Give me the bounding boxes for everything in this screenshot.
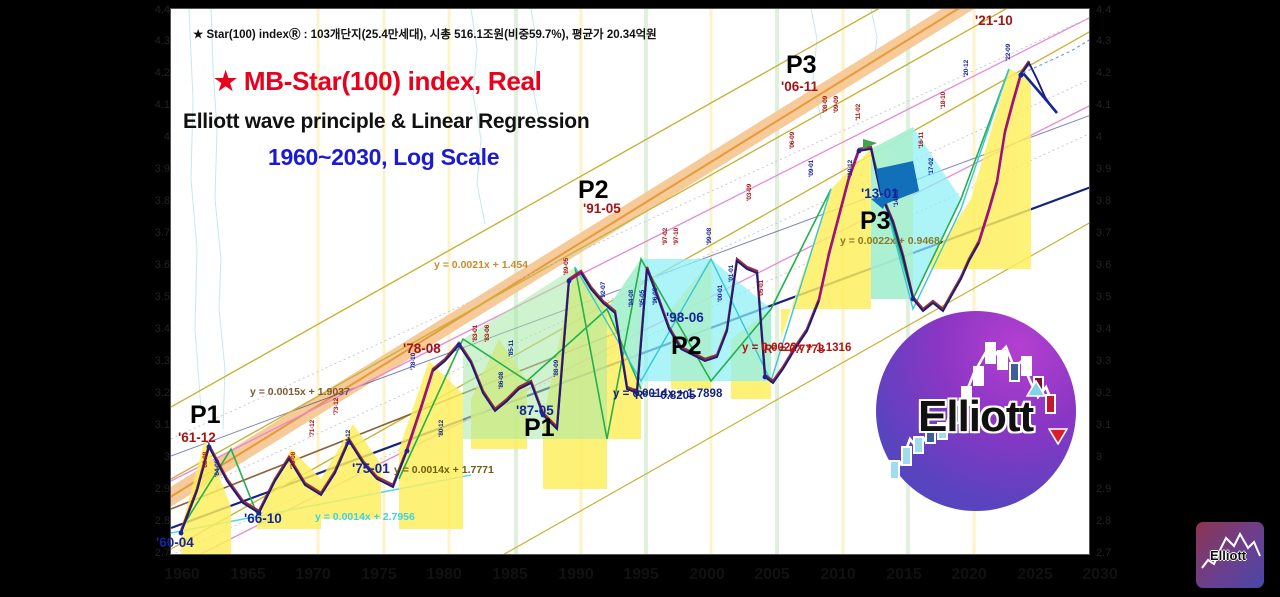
minor-pivot-83-06: '83-06 bbox=[484, 325, 491, 342]
ytick-right-4: 4 bbox=[1096, 131, 1130, 143]
pivot-label-87-05: '87-05 bbox=[516, 403, 554, 418]
ytick-right-4.4: 4.4 bbox=[1096, 4, 1130, 16]
wave-label-p3-b: P3 bbox=[860, 207, 891, 236]
minor-pivot-64-08: '64-08 bbox=[214, 460, 221, 477]
minor-pivot-63-08: '63-08 bbox=[202, 452, 209, 469]
pivot-label-98-06: '98-06 bbox=[666, 310, 704, 325]
ytick-right-3.1: 3.1 bbox=[1096, 419, 1130, 431]
xtick-2005: 2005 bbox=[742, 566, 802, 584]
minor-pivot-97-02: '97-02 bbox=[662, 228, 669, 245]
xtick-1965: 1965 bbox=[218, 566, 278, 584]
minor-pivot-18-10: '18-10 bbox=[940, 92, 947, 109]
minor-pivot-09-01: '09-01 bbox=[808, 160, 815, 177]
ytick-left-3.7: 3.7 bbox=[136, 227, 170, 239]
ytick-right-3.9: 3.9 bbox=[1096, 163, 1130, 175]
logo-wordmark: Elliott bbox=[918, 392, 1033, 442]
xtick-1960: 1960 bbox=[152, 566, 212, 584]
xtick-2030: 2030 bbox=[1070, 566, 1130, 584]
minor-pivot-14-03: '14-03 bbox=[893, 190, 900, 207]
watermark-wordmark: Elliott bbox=[1210, 548, 1246, 563]
ytick-left-3: 3 bbox=[136, 451, 170, 463]
xtick-2010: 2010 bbox=[808, 566, 868, 584]
ytick-left-2.8: 2.8 bbox=[136, 515, 170, 527]
ytick-right-4.2: 4.2 bbox=[1096, 67, 1130, 79]
ytick-left-4.2: 4.2 bbox=[136, 67, 170, 79]
xtick-1985: 1985 bbox=[480, 566, 540, 584]
equation-orange: y = 0.0021x + 1.454 bbox=[434, 258, 528, 272]
ytick-left-4.3: 4.3 bbox=[136, 35, 170, 47]
pivot-label-60-04: '60-04 bbox=[156, 535, 194, 550]
ytick-right-3.3: 3.3 bbox=[1096, 355, 1130, 367]
header-note: ★ Star(100) indexⓇ : 103개단지(25.4만세대), 시총… bbox=[193, 26, 657, 42]
wave-label-p2-b: P2 bbox=[671, 332, 702, 361]
title-line-3: 1960~2030, Log Scale bbox=[268, 144, 499, 171]
equation-navy-r2: R² = 0.8205 bbox=[635, 389, 695, 405]
pivot-label-78-08: '78-08 bbox=[403, 341, 441, 356]
forecast-dashed bbox=[1023, 39, 1090, 73]
xtick-2025: 2025 bbox=[1005, 566, 1065, 584]
minor-pivot-11-02: '11-02 bbox=[855, 104, 862, 121]
ytick-left-4.1: 4.1 bbox=[136, 99, 170, 111]
minor-pivot-78-10: '78-10 bbox=[410, 353, 417, 370]
minor-pivot-01-01: '01-01 bbox=[728, 265, 735, 282]
logo-down-triangle-icon bbox=[1048, 427, 1068, 445]
equation-red-group: y = 0.0022x + 1.1316 R² = 0.7778 bbox=[742, 341, 802, 357]
minor-pivot-03-09: '03-09 bbox=[746, 184, 753, 201]
pivot-label-21-10: '21-10 bbox=[975, 13, 1013, 28]
minor-pivot-95-05: '95-05 bbox=[639, 290, 646, 307]
pivot-label-61-12: '61-12 bbox=[178, 430, 216, 445]
pivot-label-06-11: '06-11 bbox=[781, 79, 818, 94]
equation-olive-upper: y = 0.0022x + 0.9468 bbox=[840, 234, 940, 248]
ytick-left-3.5: 3.5 bbox=[136, 291, 170, 303]
minor-pivot-06-09: '06-09 bbox=[789, 132, 796, 149]
ytick-left-3.8: 3.8 bbox=[136, 195, 170, 207]
ytick-left-3.2: 3.2 bbox=[136, 387, 170, 399]
minor-pivot-22-09: '22-09 bbox=[1005, 44, 1012, 61]
minor-pivot-88-09: '88-09 bbox=[553, 360, 560, 377]
minor-pivot-71-12: '71-12 bbox=[309, 420, 316, 437]
ytick-left-3.4: 3.4 bbox=[136, 323, 170, 335]
title-line-1: ★ MB-Star(100) index, Real bbox=[214, 66, 542, 97]
minor-pivot-94-08: '94-08 bbox=[628, 290, 635, 307]
minor-pivot-05-01: '05-01 bbox=[758, 280, 765, 297]
xtick-2015: 2015 bbox=[874, 566, 934, 584]
minor-pivot-20-12: '20-12 bbox=[963, 60, 970, 77]
xtick-1990: 1990 bbox=[546, 566, 606, 584]
chart-screenshot: 4.4 4.3 4.2 4.1 4 3.9 3.8 3.7 3.6 3.5 3.… bbox=[0, 0, 1280, 597]
equation-cyan: y = 0.0014x + 2.7956 bbox=[315, 510, 415, 524]
ytick-right-4.3: 4.3 bbox=[1096, 35, 1130, 47]
pivot-label-75-01: '75-01 bbox=[352, 461, 390, 476]
minor-pivot-73-12: '73-12 bbox=[333, 398, 340, 415]
ytick-left-4: 4 bbox=[136, 131, 170, 143]
xtick-1970: 1970 bbox=[283, 566, 343, 584]
pivot-label-66-10: '66-10 bbox=[244, 511, 282, 526]
pivot-label-91-05: '91-05 bbox=[583, 201, 621, 216]
ytick-right-3.7: 3.7 bbox=[1096, 227, 1130, 239]
minor-pivot-96-05: '96-05 bbox=[652, 288, 659, 305]
minor-pivot-00-01: '00-01 bbox=[717, 285, 724, 302]
equation-red-r2: R² = 0.7778 bbox=[764, 343, 824, 359]
title-line-2: Elliott wave principle & Linear Regressi… bbox=[183, 110, 589, 134]
ytick-left-2.9: 2.9 bbox=[136, 483, 170, 495]
equation-navy-group: y = 0.0014x + 1.7898 R² = 0.8205 bbox=[613, 387, 673, 403]
minor-pivot-99-08: '99-08 bbox=[706, 228, 713, 245]
ytick-right-3.4: 3.4 bbox=[1096, 323, 1130, 335]
ytick-right-3: 3 bbox=[1096, 451, 1130, 463]
equation-olive-lower: y = 0.0014x + 1.7771 bbox=[394, 463, 494, 477]
xtick-2000: 2000 bbox=[677, 566, 737, 584]
wave-label-p3-a: P3 bbox=[786, 51, 817, 80]
ytick-left-3.3: 3.3 bbox=[136, 355, 170, 367]
minor-pivot-70-08: '70-08 bbox=[290, 452, 297, 469]
ytick-right-2.9: 2.9 bbox=[1096, 483, 1130, 495]
ytick-left-3.9: 3.9 bbox=[136, 163, 170, 175]
minor-pivot-92-07: '92-07 bbox=[600, 282, 607, 299]
ytick-left-3.6: 3.6 bbox=[136, 259, 170, 271]
minor-pivot-86-08: '86-08 bbox=[498, 372, 505, 389]
ytick-right-3.8: 3.8 bbox=[1096, 195, 1130, 207]
minor-pivot-80-12: '80-12 bbox=[438, 420, 445, 437]
minor-pivot-85-11: '85-11 bbox=[508, 340, 515, 357]
xtick-2020: 2020 bbox=[939, 566, 999, 584]
xtick-1975: 1975 bbox=[349, 566, 409, 584]
minor-pivot-83-01: '83-01 bbox=[472, 325, 479, 342]
wave-label-p1-a: P1 bbox=[190, 401, 221, 430]
ytick-right-2.8: 2.8 bbox=[1096, 515, 1130, 527]
minor-pivot-10-12: '10-12 bbox=[847, 160, 854, 177]
minor-pivot-17-02: '17-02 bbox=[928, 158, 935, 175]
minor-pivot-74-12: '74-12 bbox=[345, 430, 352, 447]
ytick-right-3.6: 3.6 bbox=[1096, 259, 1130, 271]
ytick-right-3.5: 3.5 bbox=[1096, 291, 1130, 303]
ytick-right-2.7: 2.7 bbox=[1096, 547, 1130, 559]
ytick-right-3.2: 3.2 bbox=[1096, 387, 1130, 399]
wave-label-p1-b: P1 bbox=[524, 414, 555, 443]
xtick-1980: 1980 bbox=[414, 566, 474, 584]
xtick-1995: 1995 bbox=[611, 566, 671, 584]
minor-pivot-97-10: '97-10 bbox=[673, 228, 680, 245]
ytick-right-4.1: 4.1 bbox=[1096, 99, 1130, 111]
minor-pivot-89-05: '89-05 bbox=[563, 258, 570, 275]
logo-up-triangle-icon bbox=[1026, 380, 1046, 398]
ytick-left-3.1: 3.1 bbox=[136, 419, 170, 431]
minor-pivot-09-09: '09-09 bbox=[833, 96, 840, 113]
ytick-left-4.4: 4.4 bbox=[136, 4, 170, 16]
minor-pivot-16-11: '16-11 bbox=[918, 132, 925, 149]
minor-pivot-08-09: '08-09 bbox=[822, 96, 829, 113]
